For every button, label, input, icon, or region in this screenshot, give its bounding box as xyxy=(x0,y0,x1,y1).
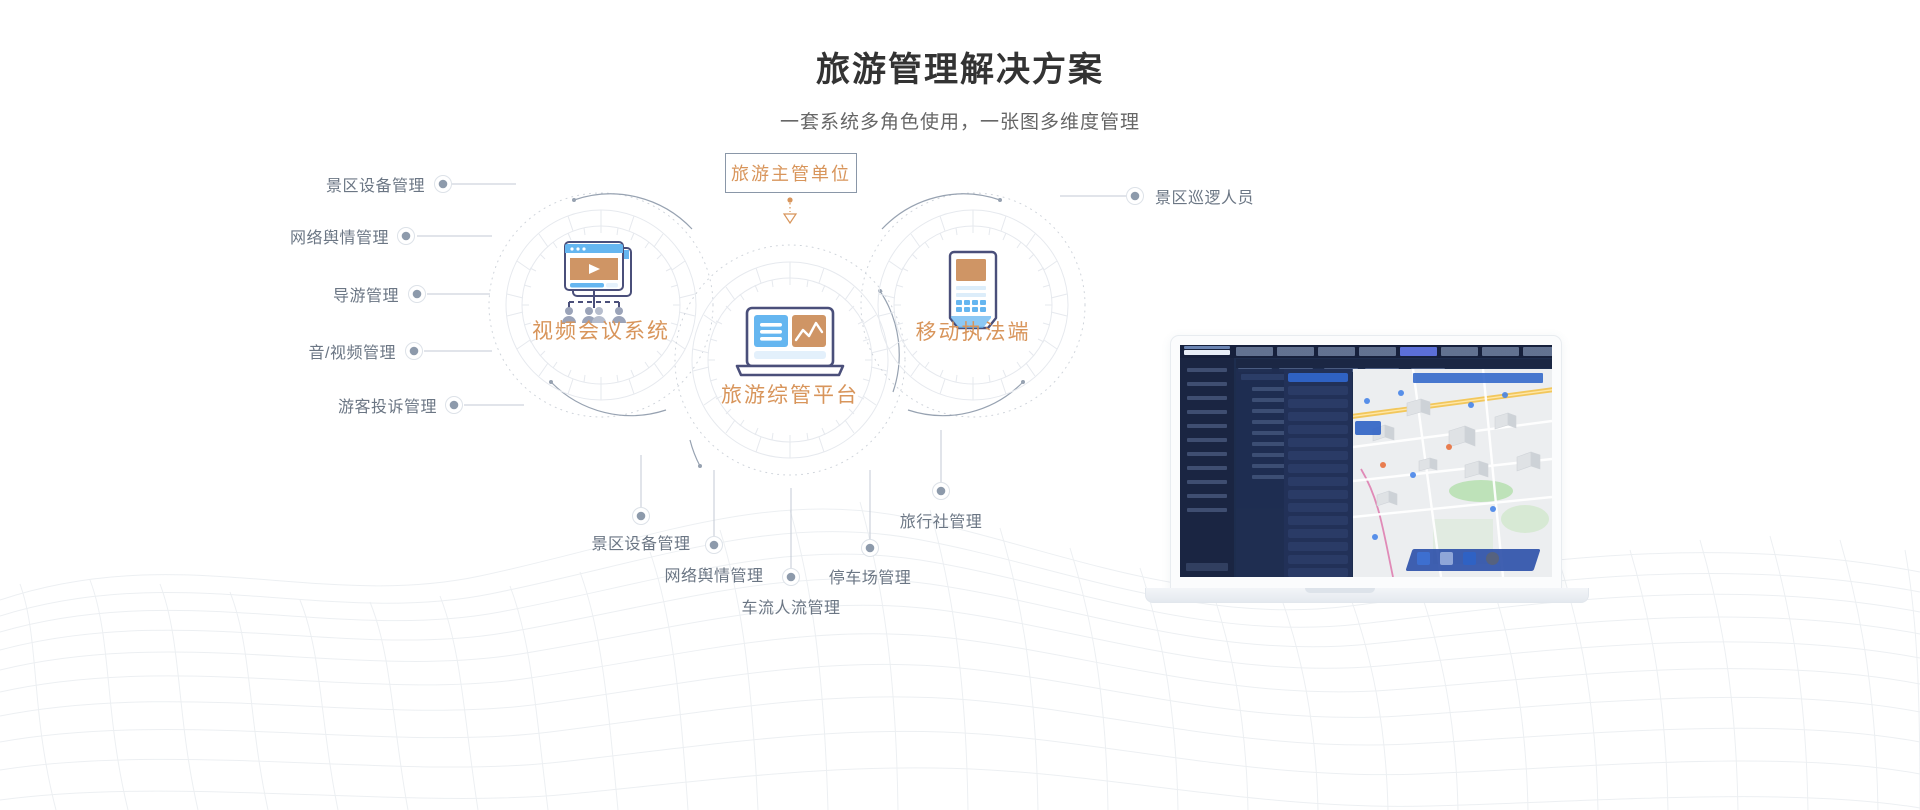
dock-icon-3[interactable] xyxy=(1486,552,1499,565)
node-label-video: 视频会议系统 xyxy=(532,315,670,345)
map-canvas xyxy=(1353,369,1552,577)
left-label-1[interactable]: 网络舆情管理 xyxy=(290,224,389,248)
dashboard-map[interactable] xyxy=(1353,369,1552,577)
layer-row[interactable] xyxy=(1288,386,1348,395)
sidebar-item[interactable] xyxy=(1187,382,1227,386)
tourism-dashboard-mockup xyxy=(1105,330,1575,635)
sidebar-item[interactable] xyxy=(1187,424,1227,428)
layer-row[interactable] xyxy=(1288,464,1348,473)
laptop-dashboard-icon xyxy=(737,308,843,375)
right-connectors xyxy=(1060,188,1144,205)
layer-row[interactable] xyxy=(1288,425,1348,434)
sidebar-item[interactable] xyxy=(1187,410,1227,414)
bottom-label-3[interactable]: 停车场管理 xyxy=(829,564,912,588)
layer-row-active[interactable] xyxy=(1288,373,1348,382)
left-label-0[interactable]: 景区设备管理 xyxy=(326,172,425,196)
page-root: 旅游管理解决方案 一套系统多角色使用，一张图多维度管理 xyxy=(0,0,1920,810)
authority-connector xyxy=(784,197,796,223)
left-label-2[interactable]: 导游管理 xyxy=(333,282,399,306)
nav-item-3[interactable] xyxy=(1359,347,1396,356)
laptop-screen xyxy=(1180,345,1552,577)
sidebar-item[interactable] xyxy=(1187,480,1227,484)
bottom-label-4[interactable]: 旅行社管理 xyxy=(900,508,983,532)
dashboard-sidebar[interactable] xyxy=(1180,358,1234,577)
bottom-label-2[interactable]: 车流人流管理 xyxy=(741,594,840,618)
map-dock-icons[interactable] xyxy=(1417,552,1499,565)
video-conference-icon xyxy=(562,242,631,323)
laptop-notch xyxy=(1305,588,1375,593)
authority-box[interactable]: 旅游主管单位 xyxy=(725,153,857,193)
sidebar-item[interactable] xyxy=(1187,438,1227,442)
bottom-label-1[interactable]: 网络舆情管理 xyxy=(664,562,763,586)
dock-icon-2[interactable] xyxy=(1463,552,1476,565)
node-label-platform: 旅游综管平台 xyxy=(721,379,859,409)
left-connectors xyxy=(398,176,525,414)
sidebar-item[interactable] xyxy=(1187,368,1227,372)
layer-row[interactable] xyxy=(1288,477,1348,486)
left-label-4[interactable]: 游客投诉管理 xyxy=(338,393,437,417)
sidebar-item[interactable] xyxy=(1187,508,1227,512)
dashboard-layers-panel[interactable] xyxy=(1284,369,1352,577)
layer-row[interactable] xyxy=(1288,542,1348,551)
nav-item-2[interactable] xyxy=(1318,347,1355,356)
layer-row[interactable] xyxy=(1288,438,1348,447)
layer-row[interactable] xyxy=(1288,412,1348,421)
layer-row[interactable] xyxy=(1288,490,1348,499)
dashboard-topbar xyxy=(1180,345,1552,358)
sidebar-item[interactable] xyxy=(1187,494,1227,498)
dashboard-tabstrip[interactable] xyxy=(1236,359,1552,368)
node-ring-video xyxy=(489,193,713,417)
dashboard-nav[interactable] xyxy=(1236,347,1552,356)
bottom-label-0[interactable]: 景区设备管理 xyxy=(591,530,690,554)
solution-diagram: 旅游主管单位 视频会议系统 旅游综管平台 移动执法端 景区设备管理 网络舆情管理… xyxy=(0,0,1920,810)
layer-row[interactable] xyxy=(1288,399,1348,408)
nav-item-5[interactable] xyxy=(1441,347,1478,356)
sidebar-item[interactable] xyxy=(1187,452,1227,456)
nav-item-7[interactable] xyxy=(1523,347,1552,356)
dock-icon-0[interactable] xyxy=(1417,552,1430,565)
nav-item-6[interactable] xyxy=(1482,347,1519,356)
layer-row[interactable] xyxy=(1288,555,1348,564)
sidebar-item[interactable] xyxy=(1187,466,1227,470)
ring-spokes-video xyxy=(507,210,695,400)
nav-item-1[interactable] xyxy=(1277,347,1314,356)
dashboard-logo xyxy=(1184,346,1230,357)
sidebar-footer xyxy=(1186,563,1228,571)
layer-row[interactable] xyxy=(1288,503,1348,512)
right-label-0[interactable]: 景区巡逻人员 xyxy=(1155,184,1254,208)
left-label-3[interactable]: 音/视频管理 xyxy=(309,339,396,363)
layer-row[interactable] xyxy=(1288,516,1348,525)
sidebar-item[interactable] xyxy=(1187,396,1227,400)
layer-row[interactable] xyxy=(1288,451,1348,460)
authority-label: 旅游主管单位 xyxy=(731,160,851,186)
map-layer-switch[interactable] xyxy=(1413,373,1543,383)
layer-row[interactable] xyxy=(1288,529,1348,538)
diagram-svg xyxy=(0,0,1920,810)
dock-icon-1[interactable] xyxy=(1440,552,1453,565)
layer-row[interactable] xyxy=(1288,568,1348,577)
nav-item-0[interactable] xyxy=(1236,347,1273,356)
laptop-body xyxy=(1170,335,1562,592)
node-label-mobile: 移动执法端 xyxy=(916,316,1031,346)
nav-item-active[interactable] xyxy=(1400,347,1437,356)
